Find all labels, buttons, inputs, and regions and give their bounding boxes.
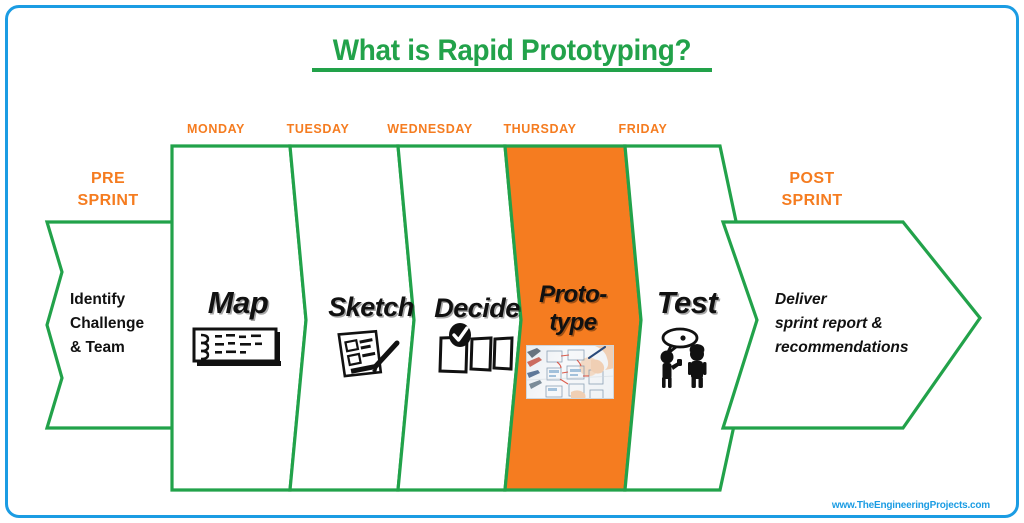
post-sprint-heading: POST SPRINT	[781, 168, 842, 212]
stage-label-prototype: Proto- type	[539, 281, 607, 337]
stage-label-map: Map	[208, 288, 269, 318]
prototype-photo	[526, 345, 614, 399]
pre-sprint-body: Identify Challenge & Team	[70, 288, 144, 360]
website-credit: www.TheEngineeringProjects.com	[832, 500, 990, 511]
checklist-board-icon	[191, 326, 285, 377]
day-label-tuesday: TUESDAY	[287, 122, 350, 136]
paper-pen-icon	[334, 325, 404, 388]
stage-label-decide: Decide	[434, 293, 520, 323]
photo-wireframe-sketch	[527, 346, 614, 399]
day-label-friday: FRIDAY	[619, 122, 668, 136]
two-people-speech-icon	[647, 327, 721, 394]
sprint-flow-diagram	[0, 0, 1024, 523]
stage-label-test: Test	[657, 288, 718, 318]
day-label-wednesday: WEDNESDAY	[387, 122, 473, 136]
post-sprint-body: Deliver sprint report & recommendations	[775, 288, 909, 360]
cards-checkmark-icon	[435, 322, 515, 383]
infographic-canvas: What is Rapid Prototyping? MONDAY TUESDA…	[0, 0, 1024, 523]
day-label-monday: MONDAY	[187, 122, 245, 136]
day-label-thursday: THURSDAY	[503, 122, 576, 136]
pre-sprint-heading: PRE SPRINT	[77, 168, 138, 212]
stage-label-sketch: Sketch	[328, 292, 414, 322]
